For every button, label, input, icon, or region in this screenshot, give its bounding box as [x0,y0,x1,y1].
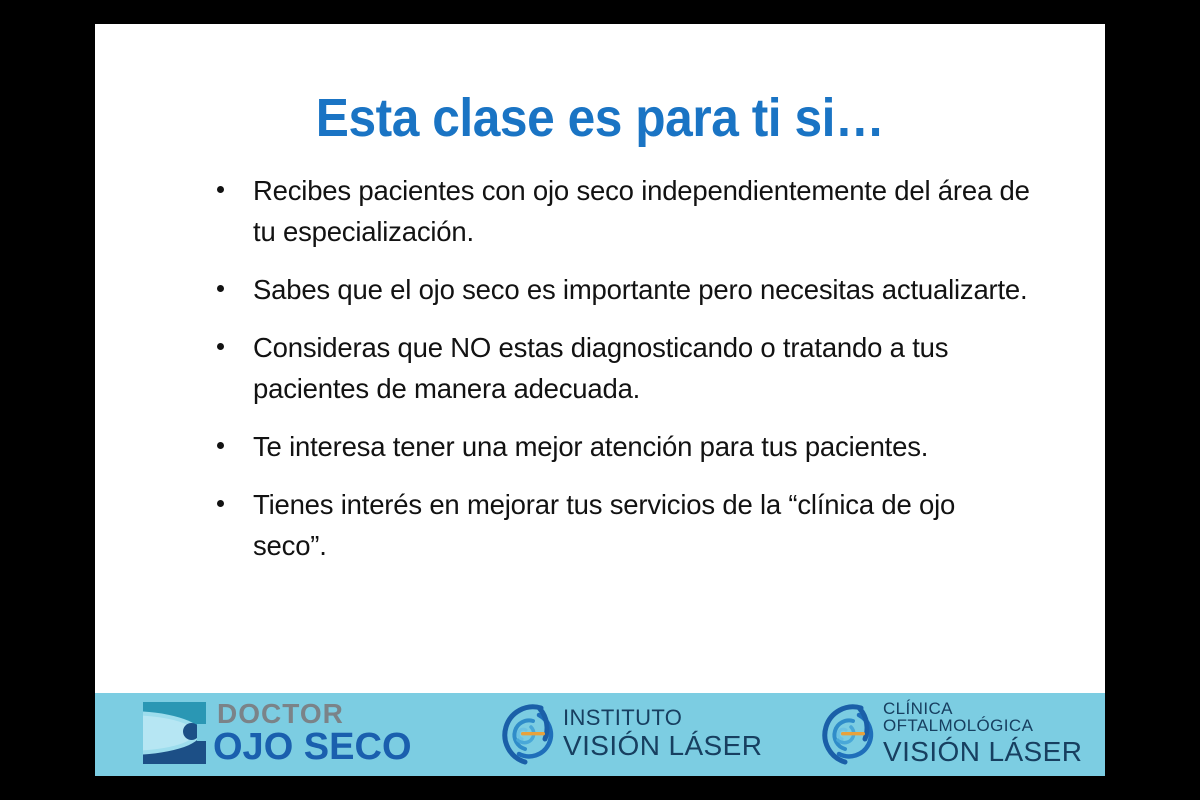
logo-line-vision-laser: VISIÓN LÁSER [883,738,1105,766]
list-item-text: Te interesa tener una mejor atención par… [253,426,1033,467]
list-item: Sabes que el ojo seco es importante pero… [203,269,1033,310]
list-item-text: Sabes que el ojo seco es importante pero… [253,269,1033,310]
logo-line-ojo-seco: OJO SECO [213,729,412,765]
list-item: Tienes interés en mejorar tus servicios … [203,484,1033,566]
bullet-dot-icon [217,442,224,449]
logo-instituto-vision-laser: INSTITUTO VISIÓN LÁSER [495,699,762,767]
logo-clinica-oftalmologica-vision-laser: CLÍNICA OFTALMOLÓGICA VISIÓN LÁSER [815,699,1105,767]
logo-line-instituto: INSTITUTO [563,707,762,729]
logo-line-clinica-oftalmologica: CLÍNICA OFTALMOLÓGICA [883,700,1105,734]
bullet-dot-icon [217,343,224,350]
list-item-text: Tienes interés en mejorar tus servicios … [253,484,1033,566]
spiral-eye-laser-icon [495,699,557,767]
list-item-text: Consideras que NO estas diagnosticando o… [253,327,1033,409]
screenshot-viewport: Esta clase es para ti si… Recibes pacien… [0,0,1200,800]
bullet-dot-icon [217,186,224,193]
bullet-list: Recibes pacientes con ojo seco independi… [203,170,1033,566]
eye-square-icon [143,702,206,764]
logo-doctor-ojo-seco-wordmark: DOCTOR OJO SECO [213,700,412,765]
logo-clinica-wordmark: CLÍNICA OFTALMOLÓGICA VISIÓN LÁSER [883,700,1105,766]
logo-instituto-wordmark: INSTITUTO VISIÓN LÁSER [563,707,762,760]
list-item: Te interesa tener una mejor atención par… [203,426,1033,467]
bullet-dot-icon [217,500,224,507]
list-item-text: Recibes pacientes con ojo seco independi… [253,170,1033,252]
footer-logo-band: DOCTOR OJO SECO [95,693,1105,776]
list-item: Consideras que NO estas diagnosticando o… [203,327,1033,409]
list-item: Recibes pacientes con ojo seco independi… [203,170,1033,252]
bullet-dot-icon [217,285,224,292]
presentation-slide: Esta clase es para ti si… Recibes pacien… [95,24,1105,776]
logo-doctor-ojo-seco: DOCTOR OJO SECO [143,700,412,765]
page-title: Esta clase es para ti si… [135,90,1064,147]
logo-line-vision-laser: VISIÓN LÁSER [563,732,762,760]
logo-line-doctor: DOCTOR [217,700,412,728]
spiral-eye-laser-icon [815,699,877,767]
